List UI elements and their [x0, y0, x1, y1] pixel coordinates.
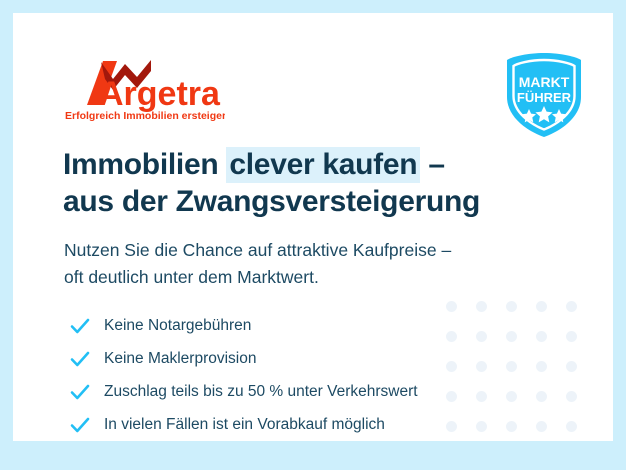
dot [536, 391, 547, 402]
dot [476, 421, 487, 432]
decorative-dot-grid [446, 301, 596, 441]
subheadline-line2: oft deutlich unter dem Marktwert. [64, 264, 544, 291]
dot [536, 331, 547, 342]
dot [566, 391, 577, 402]
badge-line2-text: FÜHRER [517, 90, 572, 105]
promo-banner: Argetra Erfolgreich Immobilien ersteiger… [0, 0, 626, 470]
dot [536, 301, 547, 312]
dot [506, 331, 517, 342]
logo-tagline-text: Erfolgreich Immobilien ersteigern [65, 110, 225, 122]
subheadline: Nutzen Sie die Chance auf attraktive Kau… [64, 237, 544, 291]
list-item: Zuschlag teils bis zu 50 % unter Verkehr… [69, 377, 418, 407]
headline-line1-pre: Immobilien [63, 148, 226, 181]
dot [446, 331, 457, 342]
list-item: In vielen Fällen ist ein Vorabkauf mögli… [69, 410, 418, 440]
dot [566, 361, 577, 372]
dot [476, 361, 487, 372]
dot [446, 301, 457, 312]
dot [536, 361, 547, 372]
dot [506, 301, 517, 312]
benefits-checklist: Keine Notargebühren Keine Maklerprovisio… [69, 311, 418, 441]
dot [566, 331, 577, 342]
svg-text:Argetra: Argetra [99, 75, 221, 113]
list-item-label: Keine Maklerprovision [104, 349, 257, 369]
headline-highlight: clever kaufen [226, 147, 420, 183]
dot [566, 421, 577, 432]
badge-line1-text: MARKT [519, 74, 570, 90]
subheadline-line1: Nutzen Sie die Chance auf attraktive Kau… [64, 237, 544, 264]
dot [506, 391, 517, 402]
dot [506, 421, 517, 432]
check-icon [69, 381, 91, 403]
banner-card: Argetra Erfolgreich Immobilien ersteiger… [13, 13, 613, 441]
dot [476, 301, 487, 312]
page-title: Immobilien clever kaufen – aus der Zwang… [63, 146, 563, 220]
dot [446, 391, 457, 402]
dot [446, 421, 457, 432]
list-item-label: Keine Notargebühren [104, 316, 251, 336]
check-icon [69, 348, 91, 370]
dot [506, 361, 517, 372]
dot [446, 361, 457, 372]
check-icon [69, 414, 91, 436]
dot [566, 301, 577, 312]
argetra-logo[interactable]: Argetra Erfolgreich Immobilien ersteiger… [65, 57, 225, 123]
dot [536, 421, 547, 432]
check-icon [69, 315, 91, 337]
dot [476, 391, 487, 402]
dot [476, 331, 487, 342]
list-item: Keine Maklerprovision [69, 344, 418, 374]
list-item: Keine Notargebühren [69, 311, 418, 341]
marktfuehrer-badge: MARKT FÜHRER [501, 51, 587, 139]
list-item-label: Zuschlag teils bis zu 50 % unter Verkehr… [104, 382, 418, 402]
list-item-label: In vielen Fällen ist ein Vorabkauf mögli… [104, 415, 385, 435]
headline-line1-post: – [420, 148, 444, 181]
headline-line2: aus der Zwangsversteigerung [63, 183, 563, 220]
